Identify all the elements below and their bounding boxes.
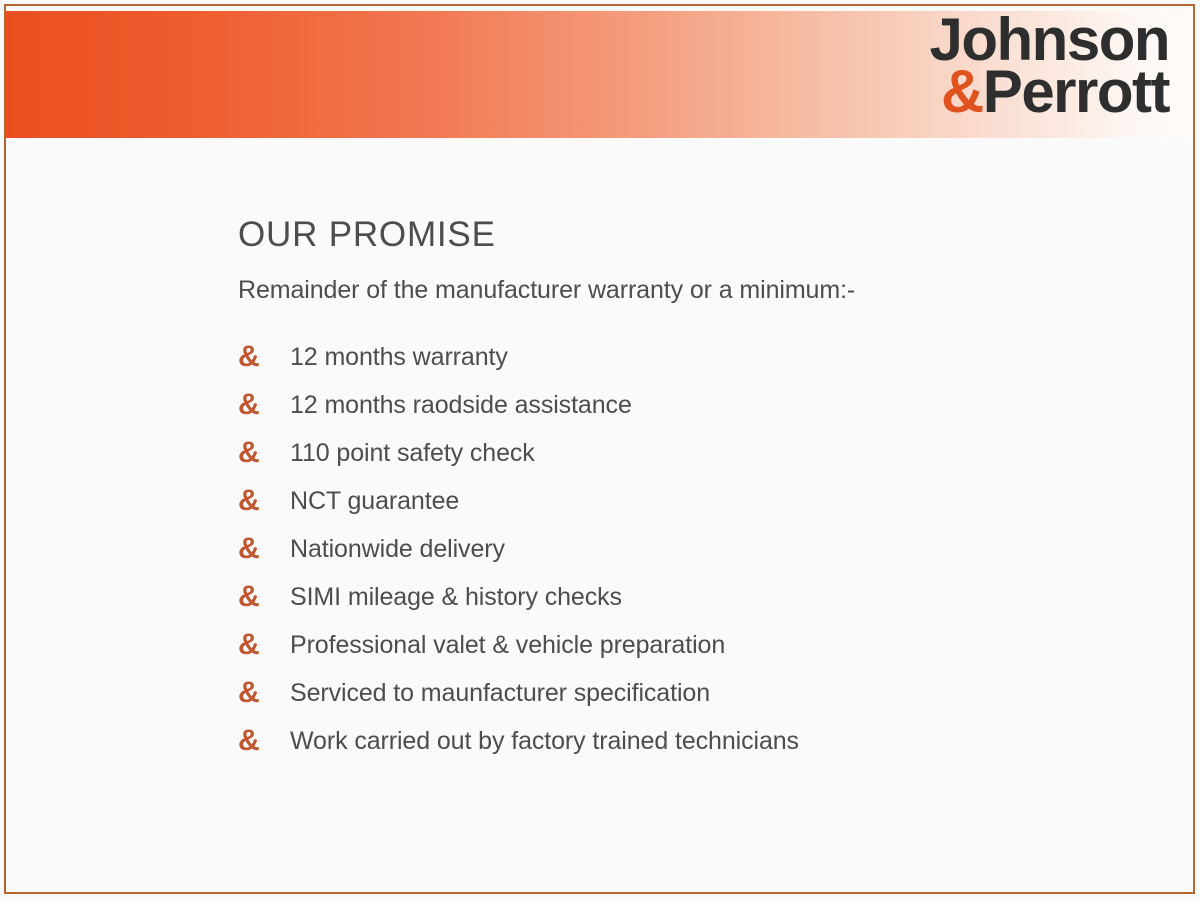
list-item-label: 12 months raodside assistance: [290, 391, 632, 420]
list-item: & SIMI mileage & history checks: [238, 574, 1193, 622]
ampersand-icon: &: [238, 486, 272, 516]
list-item: & Nationwide delivery: [238, 526, 1193, 574]
list-item: & Work carried out by factory trained te…: [238, 718, 1193, 766]
page-title: OUR PROMISE: [238, 216, 1193, 255]
list-item-label: Serviced to maunfacturer specification: [290, 679, 710, 708]
ampersand-icon: &: [238, 534, 272, 564]
promise-page: Johnson &Perrott OUR PROMISE Remainder o…: [0, 0, 1200, 900]
ampersand-icon: &: [238, 582, 272, 612]
promise-list: & 12 months warranty & 12 months raodsid…: [238, 334, 1193, 766]
list-item-label: NCT guarantee: [290, 487, 459, 516]
page-frame: Johnson &Perrott OUR PROMISE Remainder o…: [4, 4, 1195, 894]
ampersand-icon: &: [238, 678, 272, 708]
ampersand-icon: &: [238, 726, 272, 756]
list-item: & Serviced to maunfacturer specification: [238, 670, 1193, 718]
ampersand-icon: &: [238, 630, 272, 660]
page-header: Johnson &Perrott: [6, 6, 1193, 138]
list-item: & NCT guarantee: [238, 478, 1193, 526]
logo-perrott-text: Perrott: [983, 58, 1169, 125]
logo-line-perrott: &Perrott: [930, 66, 1170, 118]
page-content: OUR PROMISE Remainder of the manufacture…: [6, 138, 1193, 766]
brand-logo: Johnson &Perrott: [930, 14, 1170, 117]
list-item-label: Work carried out by factory trained tech…: [290, 727, 799, 756]
list-item: & Professional valet & vehicle preparati…: [238, 622, 1193, 670]
page-subtitle: Remainder of the manufacturer warranty o…: [238, 275, 1193, 305]
list-item: & 12 months raodside assistance: [238, 382, 1193, 430]
list-item-label: Nationwide delivery: [290, 535, 505, 564]
list-item-label: Professional valet & vehicle preparation: [290, 631, 725, 660]
list-item: & 110 point safety check: [238, 430, 1193, 478]
list-item-label: SIMI mileage & history checks: [290, 583, 622, 612]
list-item-label: 12 months warranty: [290, 343, 508, 372]
list-item-label: 110 point safety check: [290, 439, 535, 468]
ampersand-icon: &: [238, 342, 272, 372]
logo-ampersand-icon: &: [941, 58, 983, 125]
ampersand-icon: &: [238, 438, 272, 468]
ampersand-icon: &: [238, 390, 272, 420]
list-item: & 12 months warranty: [238, 334, 1193, 382]
